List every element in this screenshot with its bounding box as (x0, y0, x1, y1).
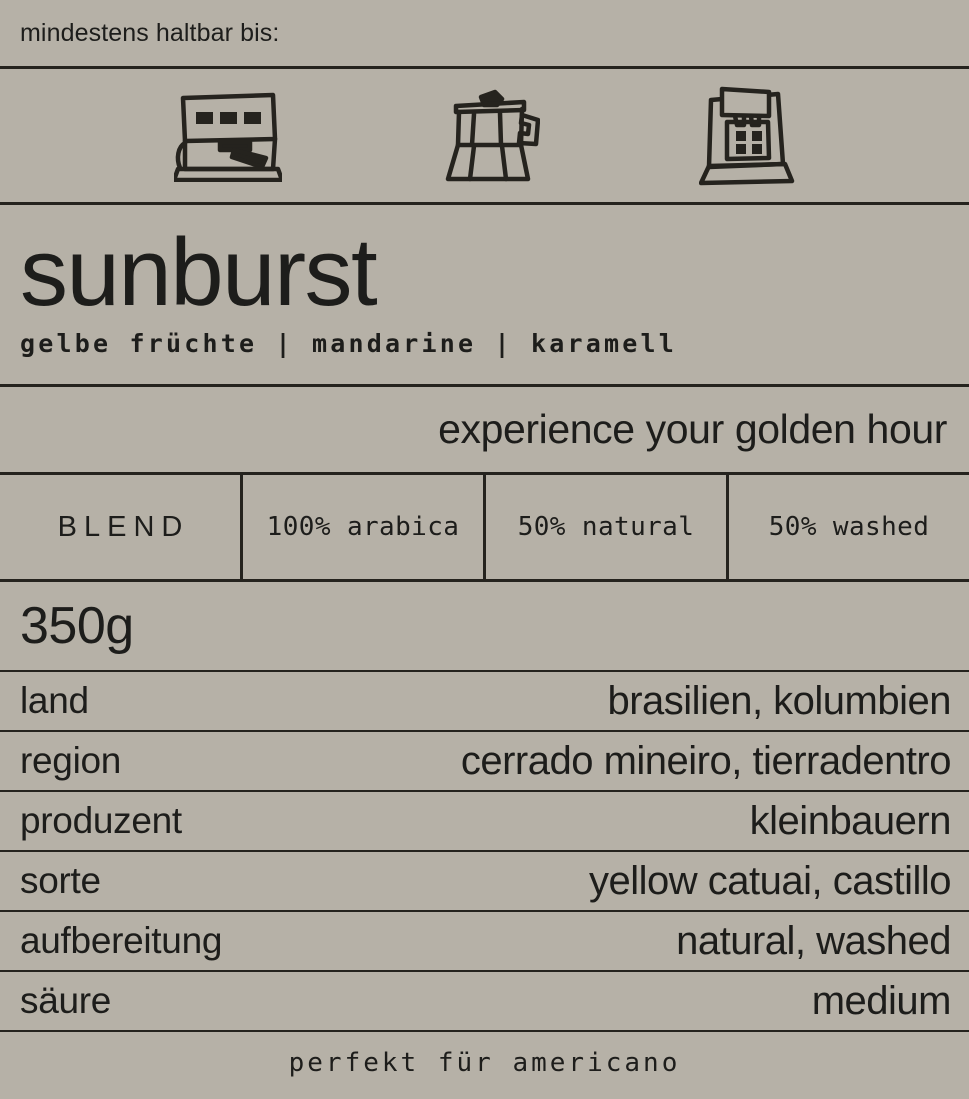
spec-row-produzent: produzent kleinbauern (0, 792, 969, 850)
moka-pot-icon (440, 86, 540, 186)
blend-cell-type: BLEND (0, 475, 240, 579)
blend-type-label: BLEND (51, 511, 190, 544)
coffee-bag-label: mindestens haltbar bis: (0, 0, 969, 1099)
best-before-label: mindestens haltbar bis: (20, 19, 279, 48)
spec-row-region: region cerrado mineiro, tierradentro (0, 732, 969, 790)
spec-key: produzent (20, 800, 182, 842)
tagline: experience your golden hour (438, 406, 947, 453)
blend-cell-washed: 50% washed (726, 475, 969, 579)
net-weight: 350g (20, 596, 134, 656)
product-name: sunburst (20, 229, 969, 317)
blend-cell-natural: 50% natural (483, 475, 726, 579)
blend-species-value: 100% arabica (267, 512, 460, 542)
spec-value: natural, washed (676, 919, 951, 964)
spec-value: cerrado mineiro, tierradentro (461, 739, 951, 784)
spec-value: yellow catuai, castillo (589, 859, 951, 904)
weight-section: 350g (0, 582, 969, 670)
espresso-machine-icon (174, 90, 282, 182)
brew-recommendation: perfekt für americano (289, 1048, 681, 1078)
bean-to-cup-machine-icon (699, 86, 795, 186)
spec-row-sorte: sorte yellow catuai, castillo (0, 852, 969, 910)
footer-section: perfekt für americano (0, 1032, 969, 1094)
product-identity-section: sunburst gelbe früchte | mandarine | kar… (0, 205, 969, 384)
blend-cell-species: 100% arabica (240, 475, 483, 579)
spec-value: brasilien, kolumbien (607, 679, 951, 724)
blend-washed-value: 50% washed (769, 512, 930, 542)
spec-row-land: land brasilien, kolumbien (0, 672, 969, 730)
blend-natural-value: 50% natural (518, 512, 695, 542)
spec-key: säure (20, 980, 111, 1022)
spec-value: kleinbauern (750, 799, 951, 844)
spec-key: aufbereitung (20, 920, 222, 962)
tagline-section: experience your golden hour (0, 387, 969, 472)
best-before-section: mindestens haltbar bis: (0, 0, 969, 66)
spec-value: medium (812, 979, 951, 1024)
spec-row-aufbereitung: aufbereitung natural, washed (0, 912, 969, 970)
spec-row-saeure: säure medium (0, 972, 969, 1030)
spec-key: land (20, 680, 89, 722)
spec-key: sorte (20, 860, 101, 902)
blend-spec-row: BLEND 100% arabica 50% natural 50% washe… (0, 475, 969, 579)
spec-key: region (20, 740, 121, 782)
tasting-notes: gelbe früchte | mandarine | karamell (20, 329, 969, 358)
brew-methods-section (0, 69, 969, 202)
